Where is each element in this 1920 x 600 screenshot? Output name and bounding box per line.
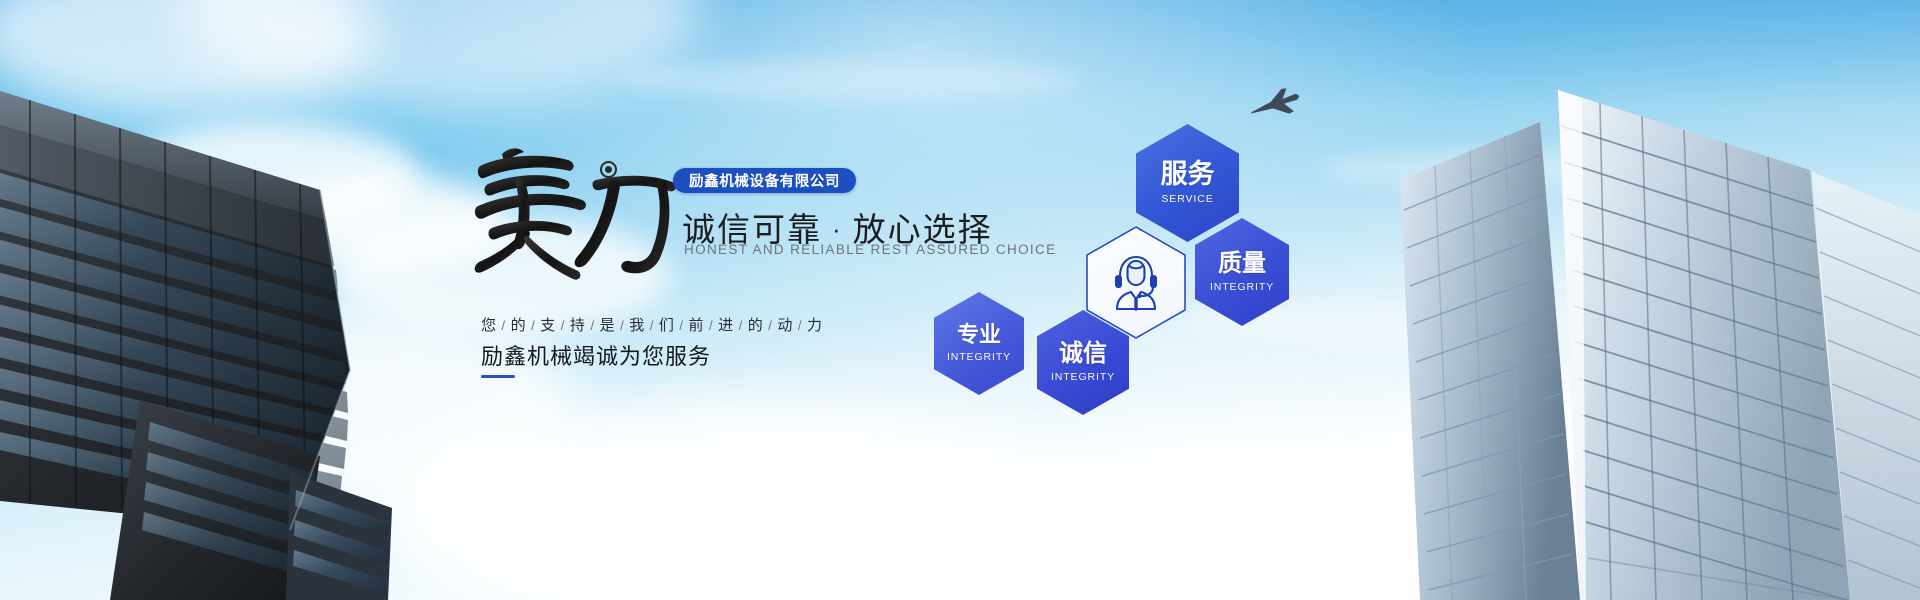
banner-content: 励鑫机械设备有限公司 诚信可靠·放心选择 HONEST AND RELIABLE…	[0, 0, 1920, 600]
hexagon-professional-en: INTEGRITY	[947, 351, 1011, 363]
hexagon-professional[interactable]: 专业 INTEGRITY	[934, 292, 1024, 395]
hexagon-professional-cn: 专业	[957, 324, 1001, 346]
hexagon-integrity-en: INTEGRITY	[1051, 371, 1115, 383]
hexagon-quality-cn: 质量	[1218, 252, 1266, 276]
hexagon-integrity-cn: 诚信	[1059, 342, 1107, 366]
hexagon-service[interactable]: 服务 SERVICE	[1136, 124, 1239, 242]
promo-banner: 励鑫机械设备有限公司 诚信可靠·放心选择 HONEST AND RELIABLE…	[0, 0, 1920, 600]
hexagon-quality[interactable]: 质量 INTEGRITY	[1195, 218, 1289, 326]
headset-operator-icon	[1109, 252, 1163, 314]
hexagon-service-cn: 服务	[1161, 161, 1215, 188]
hexagon-quality-en: INTEGRITY	[1210, 281, 1274, 293]
hexagon-cluster: 服务 SERVICE 质量 INTEGRITY	[0, 0, 1920, 600]
hexagon-service-en: SERVICE	[1161, 193, 1213, 205]
